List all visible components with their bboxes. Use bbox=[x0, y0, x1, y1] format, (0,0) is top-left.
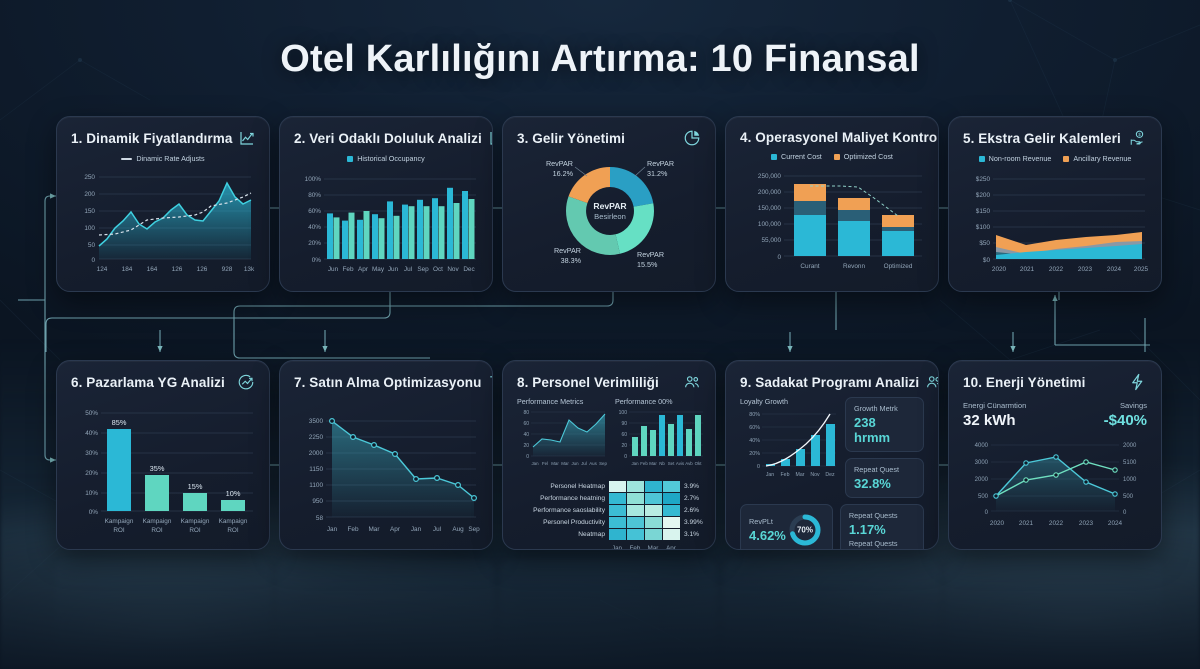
people-icon bbox=[925, 373, 939, 391]
svg-text:Jan: Jan bbox=[327, 526, 338, 533]
chart-area: $250$200$150 $100$50$0 202020212022 2023… bbox=[963, 167, 1147, 280]
svg-text:Nb: Nb bbox=[659, 461, 665, 466]
svg-text:2250: 2250 bbox=[309, 434, 324, 441]
svg-text:ROI: ROI bbox=[113, 527, 125, 534]
svg-text:2.6%: 2.6% bbox=[684, 507, 699, 514]
card-header: 5. Ekstra Gelir Kalemleri $ bbox=[963, 129, 1147, 147]
svg-text:Personel Productivity: Personel Productivity bbox=[543, 519, 606, 526]
svg-text:13k: 13k bbox=[244, 266, 255, 273]
svg-text:60%: 60% bbox=[749, 425, 760, 431]
svg-text:1000: 1000 bbox=[1123, 477, 1137, 483]
stat-consumption: Energi Cünarmtion 32 kWh bbox=[963, 401, 1026, 429]
svg-text:40%: 40% bbox=[308, 224, 321, 231]
kpi-revplt[interactable]: RevPLt 4.62% 70% bbox=[740, 504, 833, 550]
legend-swatch bbox=[347, 156, 353, 162]
svg-text:Jan: Jan bbox=[612, 545, 623, 550]
svg-text:85%: 85% bbox=[112, 418, 127, 427]
svg-text:Revonn: Revonn bbox=[843, 263, 865, 270]
card-title: 7. Satın Alma Optimizasyonu bbox=[294, 375, 482, 390]
screenshot-root: Otel Karlılığını Artırma: 10 Finansal bbox=[0, 0, 1200, 669]
legend-swatch bbox=[771, 154, 777, 160]
svg-text:126: 126 bbox=[172, 266, 183, 273]
svg-text:Jul: Jul bbox=[404, 266, 412, 273]
card-dinamik-fiyatlandirma[interactable]: 1. Dinamik Fiyatlandırma Dinamic Rate Ad… bbox=[56, 116, 270, 292]
card-header: 2. Veri Odaklı Doluluk Analizi bbox=[294, 129, 478, 147]
svg-text:Kampaign: Kampaign bbox=[105, 518, 134, 525]
svg-text:0: 0 bbox=[757, 464, 760, 470]
svg-text:124: 124 bbox=[97, 266, 108, 273]
stat-label: Energi Cünarmtion bbox=[963, 401, 1026, 410]
card-title: 3. Gelir Yönetimi bbox=[517, 131, 625, 146]
svg-text:2025: 2025 bbox=[1134, 266, 1149, 273]
svg-text:58: 58 bbox=[316, 515, 324, 522]
svg-text:Jun: Jun bbox=[328, 266, 339, 273]
svg-text:80%: 80% bbox=[308, 192, 321, 199]
card-title: 10. Enerji Yönetimi bbox=[963, 375, 1085, 390]
legend: Non-room Revenue Ancillary Revenue bbox=[963, 154, 1147, 163]
card-header: 10. Enerji Yönetimi bbox=[963, 373, 1147, 391]
svg-text:Kampaign: Kampaign bbox=[143, 518, 172, 525]
mini-charts-row: Performance Metrics 806040200 bbox=[517, 397, 701, 473]
svg-text:0%: 0% bbox=[89, 509, 99, 516]
svg-text:20: 20 bbox=[621, 443, 627, 449]
stats-row: Energi Cünarmtion 32 kWh Savings -$40% bbox=[963, 401, 1147, 429]
svg-text:Mar: Mar bbox=[648, 545, 659, 550]
svg-text:Besirleon: Besirleon bbox=[594, 212, 626, 221]
svg-text:5100: 5100 bbox=[1123, 460, 1137, 466]
kpi-label: Growth Metrk bbox=[854, 404, 915, 413]
stat-label: Savings bbox=[1104, 401, 1147, 410]
chart-area: 250,000200,000150,000 100,00055,0000 bbox=[740, 165, 924, 278]
svg-text:150,000: 150,000 bbox=[758, 205, 782, 212]
svg-text:Mar: Mar bbox=[368, 526, 380, 533]
card-doluluk-analizi[interactable]: 2. Veri Odaklı Doluluk Analizi Historica… bbox=[279, 116, 493, 292]
svg-text:3.1%: 3.1% bbox=[684, 531, 699, 538]
svg-text:90: 90 bbox=[621, 421, 627, 427]
svg-text:100: 100 bbox=[619, 410, 628, 416]
svg-text:2000: 2000 bbox=[975, 477, 989, 483]
svg-text:ROI: ROI bbox=[189, 527, 201, 534]
svg-text:2023: 2023 bbox=[1079, 520, 1094, 527]
svg-text:Neatmap: Neatmap bbox=[578, 531, 605, 538]
svg-text:250,000: 250,000 bbox=[758, 173, 782, 180]
svg-text:0: 0 bbox=[985, 510, 989, 516]
legend-label: Dinamic Rate Adjusts bbox=[136, 154, 204, 163]
card-header: 4. Operasyonel Maliyet Kontrolü bbox=[740, 129, 924, 145]
svg-text:20%: 20% bbox=[85, 470, 98, 477]
svg-text:Curant: Curant bbox=[800, 263, 819, 270]
kpi-value: 32.8% bbox=[854, 476, 915, 491]
svg-text:16.2%: 16.2% bbox=[553, 169, 574, 178]
svg-text:500: 500 bbox=[978, 494, 989, 500]
svg-text:4000: 4000 bbox=[975, 443, 989, 449]
svg-text:RevPAR: RevPAR bbox=[546, 159, 573, 168]
svg-text:1100: 1100 bbox=[309, 482, 323, 489]
legend-swatch bbox=[834, 154, 840, 160]
card-title: 6. Pazarlama YG Analizi bbox=[71, 375, 225, 390]
card-satin-alma[interactable]: 7. Satın Alma Optimizasyonu bbox=[279, 360, 493, 550]
chart-area: 250200150 100500 124184164 126126928 13k bbox=[71, 167, 255, 280]
svg-text:Aug: Aug bbox=[452, 526, 464, 533]
svg-text:80%: 80% bbox=[749, 412, 760, 418]
svg-text:40: 40 bbox=[523, 432, 529, 438]
svg-text:1150: 1150 bbox=[309, 466, 323, 473]
kpi-repeat-quest[interactable]: Repeat Quest 32.8% bbox=[845, 458, 924, 498]
svg-text:0%: 0% bbox=[312, 257, 322, 264]
stat-value: -$40% bbox=[1104, 412, 1147, 429]
svg-text:Okt: Okt bbox=[695, 461, 703, 466]
card-header: 7. Satın Alma Optimizasyonu bbox=[294, 373, 478, 391]
svg-text:Jan: Jan bbox=[411, 526, 422, 533]
loyalty-row: Loyalty Growth 80%60%40%20%0 bbox=[740, 397, 924, 498]
svg-text:2020: 2020 bbox=[990, 520, 1005, 527]
card-sadakat-programi[interactable]: 9. Sadakat Programı Analizi Loyalty Grow… bbox=[725, 360, 939, 550]
card-header: 8. Personel Verimliliği bbox=[517, 373, 701, 391]
svg-text:RevPAR: RevPAR bbox=[554, 246, 581, 255]
svg-text:928: 928 bbox=[222, 266, 233, 273]
card-title: 5. Ekstra Gelir Kalemleri bbox=[963, 131, 1121, 146]
svg-text:2000: 2000 bbox=[1123, 443, 1137, 449]
svg-text:$100: $100 bbox=[976, 224, 991, 231]
svg-text:38.3%: 38.3% bbox=[561, 256, 582, 265]
legend-item: Ancillary Revenue bbox=[1063, 154, 1131, 163]
svg-text:$150: $150 bbox=[976, 208, 991, 215]
page-title: Otel Karlılığını Artırma: 10 Finansal bbox=[0, 38, 1200, 81]
svg-text:2024: 2024 bbox=[1107, 266, 1122, 273]
kpi-label: Repeat Quest bbox=[854, 465, 915, 474]
card-gelir-yonetimi[interactable]: 3. Gelir Yönetimi RevPAR Besirleon bbox=[502, 116, 716, 292]
svg-text:30%: 30% bbox=[85, 450, 98, 457]
kpi-bottom-grid: RevPLt 4.62% 70% Repeat Quests 1.17% Rep… bbox=[740, 504, 924, 550]
stat-value: 32 kWh bbox=[963, 412, 1026, 429]
card-maliyet-kontrolu[interactable]: 4. Operasyonel Maliyet Kontrolü Current … bbox=[725, 116, 939, 292]
svg-text:ROI: ROI bbox=[227, 527, 239, 534]
svg-text:Performance heatning: Performance heatning bbox=[540, 495, 605, 502]
svg-text:Aus: Aus bbox=[589, 461, 597, 466]
legend-label: Current Cost bbox=[781, 152, 822, 161]
svg-text:Jul: Jul bbox=[433, 526, 441, 533]
card-header: 1. Dinamik Fiyatlandırma bbox=[71, 129, 255, 147]
legend-label: Historical Occupancy bbox=[357, 154, 425, 163]
bar-chart-icon bbox=[488, 129, 493, 147]
legend-item: Dinamic Rate Adjusts bbox=[121, 154, 204, 163]
svg-text:2024: 2024 bbox=[1108, 520, 1123, 527]
svg-text:Sep: Sep bbox=[468, 526, 480, 533]
svg-text:Dec: Dec bbox=[463, 266, 475, 273]
svg-text:Feb: Feb bbox=[342, 266, 353, 273]
gauge-value: 70% bbox=[797, 526, 813, 535]
svg-text:15%: 15% bbox=[188, 482, 203, 491]
svg-text:2022: 2022 bbox=[1049, 266, 1064, 273]
svg-text:Feb: Feb bbox=[347, 526, 358, 533]
legend-item: Historical Occupancy bbox=[347, 154, 425, 163]
heatmap-area: Personel Heatmap Performance heatning Pe… bbox=[517, 477, 701, 550]
svg-text:Apr: Apr bbox=[358, 266, 369, 273]
legend-swatch bbox=[979, 156, 985, 162]
legend-label: Optimized Cost bbox=[844, 152, 893, 161]
card-pazarlama-yg[interactable]: 6. Pazarlama YG Analizi 50%40%30% 20%10%… bbox=[56, 360, 270, 550]
svg-text:100,000: 100,000 bbox=[758, 221, 782, 228]
trend-circle-icon bbox=[237, 373, 255, 391]
chart-area: 100%80%60% 40%20%0% JunFebApr bbox=[294, 167, 478, 280]
hand-money-icon: $ bbox=[1129, 129, 1147, 147]
svg-text:2000: 2000 bbox=[309, 450, 324, 457]
pie-chart-icon bbox=[683, 129, 701, 147]
kpi-column: Growth Metrk 238 hrmm Repeat Quest 32.8% bbox=[845, 397, 924, 498]
svg-text:40%: 40% bbox=[749, 438, 760, 444]
bolt-icon bbox=[1129, 373, 1147, 391]
card-header: 3. Gelir Yönetimi bbox=[517, 129, 701, 147]
card-title: 8. Personel Verimliliği bbox=[517, 375, 659, 390]
svg-text:$0: $0 bbox=[983, 257, 991, 264]
svg-text:RevPAR: RevPAR bbox=[637, 250, 664, 259]
svg-text:2023: 2023 bbox=[1078, 266, 1093, 273]
svg-text:50%: 50% bbox=[85, 410, 98, 417]
svg-text:Sep: Sep bbox=[417, 266, 429, 273]
legend: Historical Occupancy bbox=[294, 154, 478, 163]
card-ekstra-gelir[interactable]: 5. Ekstra Gelir Kalemleri $ Non-room Rev… bbox=[948, 116, 1162, 292]
chart-area: 50%40%30% 20%10%0% 85%35% 15%10% Kampaig… bbox=[71, 399, 255, 544]
chart-area: RevPAR Besirleon RevPAR 31.2% RevPAR 15.… bbox=[517, 149, 701, 286]
svg-text:200: 200 bbox=[84, 191, 95, 198]
svg-text:100: 100 bbox=[84, 225, 95, 232]
card-title: 1. Dinamik Fiyatlandırma bbox=[71, 131, 232, 146]
svg-text:2021: 2021 bbox=[1019, 520, 1034, 527]
svg-text:35%: 35% bbox=[150, 464, 165, 473]
stat-savings: Savings -$40% bbox=[1104, 401, 1147, 429]
svg-text:$: $ bbox=[1138, 132, 1141, 137]
svg-text:20: 20 bbox=[523, 443, 529, 449]
chart-area: 350022502000 11501100950 58 JanFebMar Ap… bbox=[294, 413, 478, 544]
svg-text:Set: Set bbox=[668, 461, 675, 466]
svg-text:2020: 2020 bbox=[992, 266, 1007, 273]
svg-text:20%: 20% bbox=[308, 240, 321, 247]
loyalty-growth-chart: Loyalty Growth 80%60%40%20%0 bbox=[740, 397, 838, 498]
mini-chart-performance-metrics: Performance Metrics 806040200 bbox=[517, 397, 607, 473]
svg-text:Sep: Sep bbox=[599, 461, 607, 466]
svg-text:60%: 60% bbox=[308, 208, 321, 215]
svg-text:950: 950 bbox=[312, 498, 323, 505]
svg-text:Avis: Avis bbox=[676, 461, 685, 466]
svg-text:$50: $50 bbox=[979, 240, 990, 247]
svg-text:Jun: Jun bbox=[571, 461, 579, 466]
mini-chart-title: Performance Metrics bbox=[517, 397, 607, 406]
card-title: 9. Sadakat Programı Analizi bbox=[740, 375, 919, 390]
kpi-sub: Repeat Quests bbox=[849, 539, 915, 548]
svg-text:40%: 40% bbox=[85, 430, 98, 437]
svg-text:May: May bbox=[372, 266, 385, 273]
svg-text:0: 0 bbox=[624, 454, 627, 460]
kpi-label: RevPLt bbox=[749, 517, 786, 526]
legend-line bbox=[121, 158, 132, 160]
svg-text:RevPAR: RevPAR bbox=[593, 201, 627, 211]
svg-text:2021: 2021 bbox=[1020, 266, 1035, 273]
card-title: 4. Operasyonel Maliyet Kontrolü bbox=[740, 130, 939, 145]
legend-label: Non-room Revenue bbox=[989, 154, 1052, 163]
svg-text:150: 150 bbox=[84, 208, 95, 215]
svg-text:Mar: Mar bbox=[561, 461, 569, 466]
svg-text:Jan: Jan bbox=[766, 472, 774, 478]
svg-text:0: 0 bbox=[91, 257, 95, 264]
legend-item: Optimized Cost bbox=[834, 152, 893, 161]
svg-text:15.5%: 15.5% bbox=[637, 260, 658, 269]
svg-text:Fel: Fel bbox=[542, 461, 548, 466]
svg-text:0: 0 bbox=[777, 254, 781, 261]
svg-text:Feb: Feb bbox=[630, 545, 641, 550]
svg-text:Nov: Nov bbox=[810, 472, 820, 478]
svg-text:Personel Heatmap: Personel Heatmap bbox=[550, 483, 605, 490]
bottom-fade bbox=[0, 529, 1200, 669]
svg-text:50: 50 bbox=[88, 242, 96, 249]
svg-text:Jan: Jan bbox=[531, 461, 539, 466]
svg-text:$250: $250 bbox=[976, 176, 991, 183]
svg-text:0: 0 bbox=[526, 454, 529, 460]
svg-text:200,000: 200,000 bbox=[758, 189, 782, 196]
svg-text:ROI: ROI bbox=[151, 527, 163, 534]
svg-text:Mar: Mar bbox=[796, 472, 805, 478]
svg-text:Kampaign: Kampaign bbox=[219, 518, 248, 525]
svg-text:Nov: Nov bbox=[447, 266, 459, 273]
card-header: 6. Pazarlama YG Analizi bbox=[71, 373, 255, 391]
svg-text:100%: 100% bbox=[305, 176, 322, 183]
svg-text:184: 184 bbox=[122, 266, 133, 273]
svg-text:3.9%: 3.9% bbox=[684, 483, 699, 490]
legend: Current Cost Optimized Cost bbox=[740, 152, 924, 161]
kpi-value: 1.17% bbox=[849, 522, 915, 537]
svg-text:164: 164 bbox=[147, 266, 158, 273]
svg-text:Jul: Jul bbox=[581, 461, 587, 466]
card-enerji-yonetimi[interactable]: 10. Enerji Yönetimi Energi Cünarmtion 32… bbox=[948, 360, 1162, 550]
kpi-label: Repeat Quests bbox=[849, 511, 915, 520]
svg-text:20%: 20% bbox=[749, 451, 760, 457]
kpi-repeat-quests[interactable]: Repeat Quests 1.17% Repeat Quests bbox=[840, 504, 924, 550]
svg-text:31.2%: 31.2% bbox=[647, 169, 668, 178]
svg-text:Jun: Jun bbox=[388, 266, 399, 273]
mini-chart-performance-pct: Performance 00% 1009060200 bbox=[615, 397, 705, 473]
svg-text:Optimized: Optimized bbox=[884, 263, 913, 270]
svg-text:2022: 2022 bbox=[1049, 520, 1064, 527]
svg-text:60: 60 bbox=[523, 421, 529, 427]
svg-text:Apr: Apr bbox=[390, 526, 401, 533]
legend-label: Ancillary Revenue bbox=[1073, 154, 1131, 163]
svg-text:126: 126 bbox=[197, 266, 208, 273]
kpi-growth-metric[interactable]: Growth Metrk 238 hrmm bbox=[845, 397, 924, 452]
svg-text:3500: 3500 bbox=[309, 418, 324, 425]
svg-text:Feb: Feb bbox=[640, 461, 648, 466]
card-title: 2. Veri Odaklı Doluluk Analizi bbox=[294, 131, 482, 146]
svg-text:Oct: Oct bbox=[433, 266, 443, 273]
svg-text:250: 250 bbox=[84, 174, 95, 181]
svg-text:Performance saoslability: Performance saoslability bbox=[533, 507, 606, 514]
svg-text:Jan: Jan bbox=[631, 461, 639, 466]
gauge-donut: 70% bbox=[786, 511, 824, 549]
svg-text:2.7%: 2.7% bbox=[684, 495, 699, 502]
svg-text:Avb: Avb bbox=[685, 461, 693, 466]
svg-text:3000: 3000 bbox=[975, 460, 989, 466]
svg-text:Dez: Dez bbox=[825, 472, 835, 478]
people-icon bbox=[683, 373, 701, 391]
svg-text:Kampaign: Kampaign bbox=[181, 518, 210, 525]
card-header: 9. Sadakat Programı Analizi bbox=[740, 373, 924, 391]
svg-text:55,000: 55,000 bbox=[761, 237, 781, 244]
kpi-value: 4.62% bbox=[749, 528, 786, 543]
cart-icon bbox=[488, 373, 494, 391]
svg-text:$200: $200 bbox=[976, 192, 991, 199]
svg-text:Feb: Feb bbox=[781, 472, 790, 478]
svg-text:Mar: Mar bbox=[551, 461, 559, 466]
svg-text:Apr: Apr bbox=[666, 545, 676, 550]
svg-text:RevPAR: RevPAR bbox=[647, 159, 674, 168]
line-chart-icon bbox=[238, 129, 256, 147]
chart-area: 400030002000 5000 200051001000 5000 bbox=[963, 437, 1147, 538]
svg-text:80: 80 bbox=[523, 410, 529, 416]
svg-text:Mar: Mar bbox=[649, 461, 657, 466]
svg-text:60: 60 bbox=[621, 432, 627, 438]
legend-item: Current Cost bbox=[771, 152, 822, 161]
legend-swatch bbox=[1063, 156, 1069, 162]
svg-text:500: 500 bbox=[1123, 494, 1134, 500]
legend: Dinamic Rate Adjusts bbox=[71, 154, 255, 163]
svg-text:10%: 10% bbox=[85, 490, 98, 497]
kpi-value: 238 hrmm bbox=[854, 415, 915, 445]
svg-text:3.99%: 3.99% bbox=[684, 519, 703, 526]
svg-text:0: 0 bbox=[1123, 510, 1127, 516]
mini-chart-title: Performance 00% bbox=[615, 397, 705, 406]
chart-title: Loyalty Growth bbox=[740, 397, 838, 406]
legend-item: Non-room Revenue bbox=[979, 154, 1052, 163]
svg-text:10%: 10% bbox=[226, 489, 241, 498]
card-personel-verimliligi[interactable]: 8. Personel Verimliliği Performance Metr… bbox=[502, 360, 716, 550]
